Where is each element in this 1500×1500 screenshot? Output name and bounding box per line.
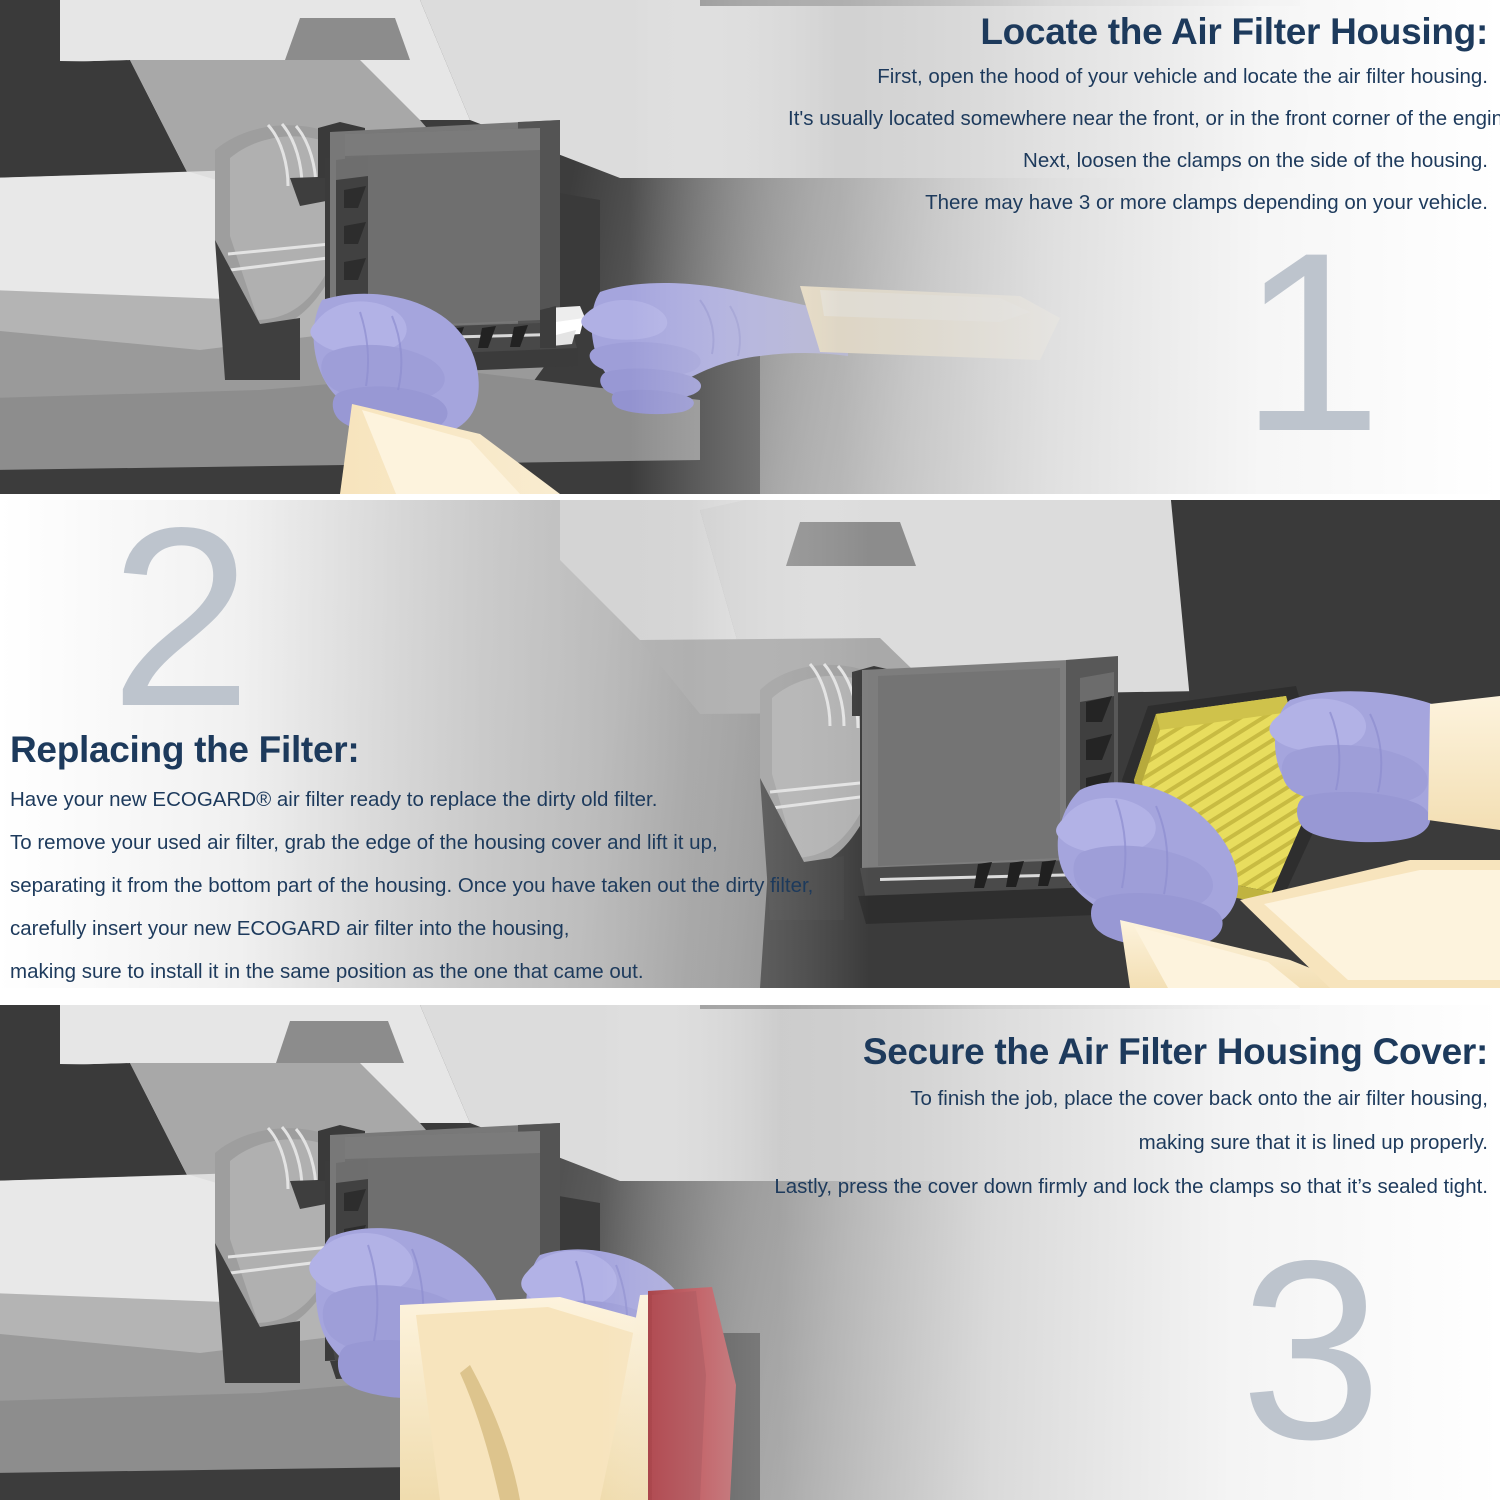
step-3-line-1: To finish the job, place the cover back …: [688, 1077, 1488, 1121]
air-filter-instructions-infographic: 1 Locate the Air Filter Housing: First, …: [0, 0, 1500, 1500]
step-number-3: 3: [1240, 1223, 1382, 1478]
step-2-line-2: To remove your used air filter, grab the…: [10, 821, 930, 864]
step-2-text-block: Replacing the Filter: Have your new ECOG…: [10, 722, 930, 988]
step-1-line-3: Next, loosen the clamps on the side of t…: [788, 140, 1488, 182]
step-3-text-block: Secure the Air Filter Housing Cover: To …: [688, 1027, 1488, 1209]
step-2-line-4: carefully insert your new ECOGARD air fi…: [10, 907, 930, 950]
step-panel-3: 3 Secure the Air Filter Housing Cover: T…: [0, 1005, 1500, 1500]
step-2-line-3: separating it from the bottom part of th…: [10, 864, 930, 907]
step-2-heading: Replacing the Filter:: [10, 722, 930, 778]
step-panel-1: 1 Locate the Air Filter Housing: First, …: [0, 0, 1500, 494]
panel-divider-2: [0, 988, 1500, 1005]
step-1-line-2: It's usually located somewhere near the …: [788, 98, 1488, 140]
step-number-2: 2: [110, 500, 252, 745]
step-2-line-1: Have your new ECOGARD® air filter ready …: [10, 778, 930, 821]
step-1-text-block: Locate the Air Filter Housing: First, op…: [788, 8, 1488, 224]
step-1-line-1: First, open the hood of your vehicle and…: [788, 56, 1488, 98]
step-1-heading: Locate the Air Filter Housing:: [788, 8, 1488, 56]
step-3-heading: Secure the Air Filter Housing Cover:: [688, 1027, 1488, 1077]
step-3-line-2: making sure that it is lined up properly…: [688, 1121, 1488, 1165]
step-3-line-3: Lastly, press the cover down firmly and …: [688, 1165, 1488, 1209]
step-2-line-5: making sure to install it in the same po…: [10, 950, 930, 988]
step-1-line-4: There may have 3 or more clamps dependin…: [788, 182, 1488, 224]
step-number-1: 1: [1240, 215, 1382, 470]
step-panel-2: 2 Replacing the Filter: Have your new EC…: [0, 500, 1500, 988]
